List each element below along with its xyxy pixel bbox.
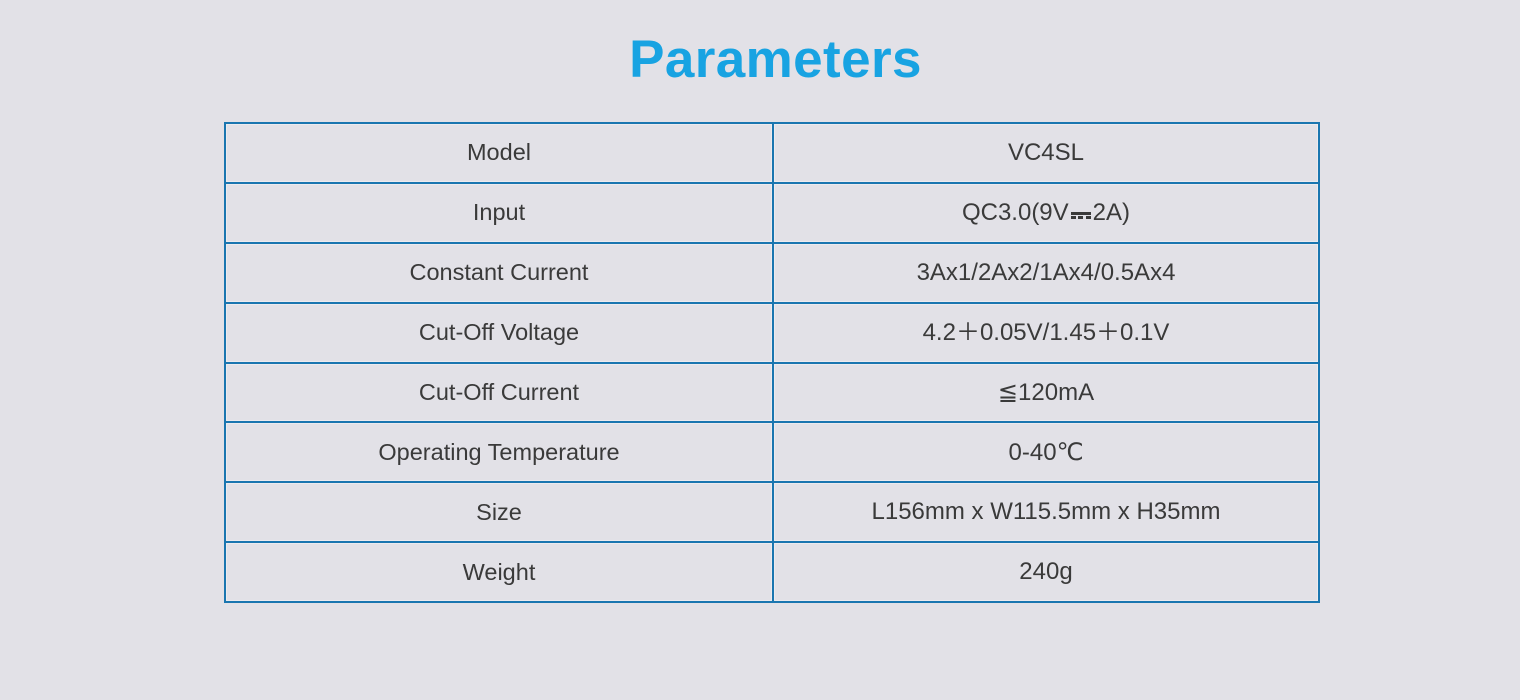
spec-value-cut-off-voltage: 4.2＋0.05V/1.45＋0.1V (773, 303, 1319, 363)
spec-label-constant-current: Constant Current (225, 243, 773, 303)
spec-label-model: Model (225, 123, 773, 183)
spec-label-weight: Weight (225, 542, 773, 602)
specifications-table-body: Model VC4SL Input QC3.0(9V2A) Constant C… (225, 123, 1319, 602)
table-row: Weight 240g (225, 542, 1319, 602)
specifications-table: Model VC4SL Input QC3.0(9V2A) Constant C… (224, 122, 1320, 603)
spec-label-cut-off-voltage: Cut-Off Voltage (225, 303, 773, 363)
table-row: Operating Temperature 0-40℃ (225, 422, 1319, 482)
spec-label-cut-off-current: Cut-Off Current (225, 363, 773, 423)
table-row: Cut-Off Voltage 4.2＋0.05V/1.45＋0.1V (225, 303, 1319, 363)
spec-value-constant-current: 3Ax1/2Ax2/1Ax4/0.5Ax4 (773, 243, 1319, 303)
input-value-suffix: 2A) (1093, 199, 1130, 226)
parameters-page: Parameters Model VC4SL Input QC3.0(9V2A)… (0, 0, 1520, 700)
table-row: Size L156mm x W115.5mm x H35mm (225, 482, 1319, 542)
dc-current-icon (1071, 202, 1091, 225)
spec-value-weight: 240g (773, 542, 1319, 602)
spec-label-size: Size (225, 482, 773, 542)
spec-label-operating-temperature: Operating Temperature (225, 422, 773, 482)
table-row: Constant Current 3Ax1/2Ax2/1Ax4/0.5Ax4 (225, 243, 1319, 303)
page-title: Parameters (0, 33, 1520, 86)
spec-value-input: QC3.0(9V2A) (773, 183, 1319, 243)
spec-value-model: VC4SL (773, 123, 1319, 183)
spec-label-input: Input (225, 183, 773, 243)
spec-value-cut-off-current: ≦120mA (773, 363, 1319, 423)
spec-value-operating-temperature: 0-40℃ (773, 422, 1319, 482)
spec-value-size: L156mm x W115.5mm x H35mm (773, 482, 1319, 542)
table-row: Cut-Off Current ≦120mA (225, 363, 1319, 423)
table-row: Model VC4SL (225, 123, 1319, 183)
table-row: Input QC3.0(9V2A) (225, 183, 1319, 243)
input-value-prefix: QC3.0(9V (962, 199, 1069, 226)
